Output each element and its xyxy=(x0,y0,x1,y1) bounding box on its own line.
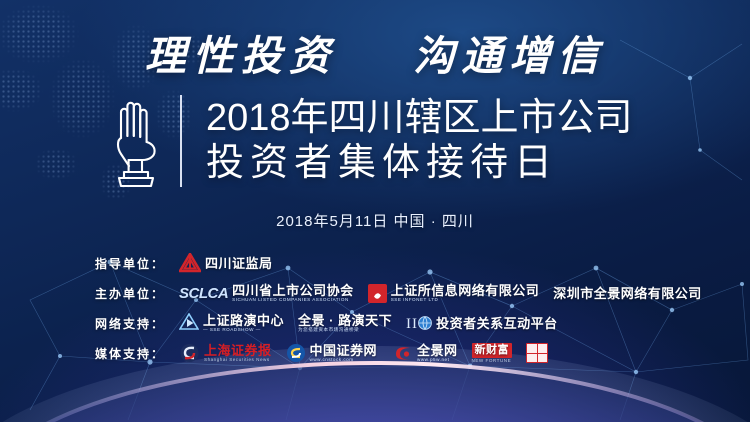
p5w-roadshow-text: 全景 · 路演天下 为您搭建资本市场沟通桥梁 xyxy=(298,314,392,333)
logo-sse-roadshow[interactable]: 上证路演中心 — SSE ROADSHOW — xyxy=(179,313,284,333)
ir-globe-icon: I I xyxy=(406,314,432,332)
logo-p5w-shenzhen[interactable]: 深圳市全景网络有限公司 xyxy=(553,287,702,300)
logo-sublabel: 为您搭建资本市场沟通桥梁 xyxy=(298,327,392,333)
sse-infonet-text: 上证所信息网络有限公司 SSE INFONET LTD xyxy=(391,284,540,303)
logo-sublabel: NEW FORTUNE xyxy=(472,358,513,364)
investor-reception-day-poster: 理性投资 沟通增信 2018年四川辖区上市公司 投资者集体接待日 2 xyxy=(0,0,750,422)
credit-row-logos: SCLCA 四川省上市公司协会 SICHUAN LISTED COMPANIES… xyxy=(179,284,702,303)
logo-csrc-sichuan[interactable]: 四川证监局 xyxy=(179,253,273,273)
logo-label: 上海证券报 xyxy=(204,344,272,357)
credit-row-logos: 上海证券报 Shanghai Securities News 中国证券网 www… xyxy=(179,343,548,364)
logo-label: 上证所信息网络有限公司 xyxy=(391,284,540,297)
title-block: 2018年四川辖区上市公司 投资者集体接待日 xyxy=(108,92,633,190)
logo-label: 深圳市全景网络有限公司 xyxy=(553,287,702,300)
logo-label: 全景网 xyxy=(417,344,458,357)
logo-shanghai-securities-news[interactable]: 上海证券报 Shanghai Securities News xyxy=(179,343,272,363)
credit-row-label: 媒体支持： xyxy=(95,345,171,362)
svg-text:I: I xyxy=(412,316,417,332)
credit-row-organizers: 主办单位： SCLCA 四川省上市公司协会 SICHUAN LISTED COM… xyxy=(95,278,695,308)
title-divider-rule xyxy=(180,95,182,187)
logo-sublabel: Shanghai Securities News xyxy=(204,357,272,363)
title-line-1: 2018年四川辖区上市公司 xyxy=(206,96,633,141)
credit-row-label: 指导单位： xyxy=(95,255,171,272)
logo-label: 四川证监局 xyxy=(205,257,273,270)
logo-sclca[interactable]: SCLCA 四川省上市公司协会 SICHUAN LISTED COMPANIES… xyxy=(179,284,354,303)
logo-sublabel: SSE INFONET LTD xyxy=(391,297,540,303)
sclca-text: 四川省上市公司协会 SICHUAN LISTED COMPANIES ASSOC… xyxy=(232,284,354,303)
credits-list: 指导单位： 四川证监局 主办单位： SCLCA 四 xyxy=(95,248,695,368)
seal-quadrant xyxy=(527,344,537,353)
logo-sublabel: — SSE ROADSHOW — xyxy=(203,327,284,333)
logo-ir-platform[interactable]: I I 投资者关系互动平台 xyxy=(406,314,558,332)
logo-p5w-net[interactable]: 全景网 www.p5w.net xyxy=(391,343,458,363)
raised-hand-on-book-icon xyxy=(108,92,166,190)
logo-sublabel: www.cnstock.com xyxy=(310,357,378,363)
red-seal-icon[interactable] xyxy=(526,343,548,363)
svg-text:I: I xyxy=(406,316,411,332)
logo-label: 新财富 xyxy=(472,343,513,358)
title-lines: 2018年四川辖区上市公司 投资者集体接待日 xyxy=(206,96,633,186)
headline-slogan: 理性投资 沟通增信 xyxy=(0,22,750,82)
csrc-triangle-icon xyxy=(179,253,201,273)
sse-roadshow-text: 上证路演中心 — SSE ROADSHOW — xyxy=(203,314,284,333)
credit-row-label: 网络支持： xyxy=(95,315,171,332)
credit-row-guidance: 指导单位： 四川证监局 xyxy=(95,248,695,278)
seal-quadrant xyxy=(538,344,548,353)
credit-row-logos: 上证路演中心 — SSE ROADSHOW — 全景 · 路演天下 为您搭建资本… xyxy=(179,313,558,333)
event-date-location: 2018年5月11日 中国 · 四川 xyxy=(0,210,750,231)
logo-sublabel: www.p5w.net xyxy=(417,357,458,363)
ssn-text: 上海证券报 Shanghai Securities News xyxy=(204,344,272,363)
cnstock-text: 中国证券网 www.cnstock.com xyxy=(310,344,378,363)
credit-row-label: 主办单位： xyxy=(95,285,171,302)
credit-row-media-support: 媒体支持： 上海证券报 Shanghai Securities News xyxy=(95,338,695,368)
logo-label: 四川省上市公司协会 xyxy=(232,284,354,297)
play-triangle-icon xyxy=(179,313,199,333)
swirl-s-icon xyxy=(179,343,200,363)
seal-quadrant xyxy=(538,354,548,363)
logo-label: 投资者关系互动平台 xyxy=(436,317,558,330)
credit-row-network-support: 网络支持： 上证路演中心 — SSE ROADSHOW — 全景 · 路演天下 xyxy=(95,308,695,338)
title-line-2: 投资者集体接待日 xyxy=(206,141,633,186)
headline-slogan-left: 理性投资 xyxy=(145,32,337,80)
new-fortune-text: 新财富 NEW FORTUNE xyxy=(472,343,513,364)
logo-cnstock[interactable]: 中国证券网 www.cnstock.com xyxy=(286,343,378,363)
logo-sublabel: SICHUAN LISTED COMPANIES ASSOCIATION xyxy=(232,297,354,303)
p5w-text: 全景网 www.p5w.net xyxy=(417,344,458,363)
seal-quadrant xyxy=(527,354,537,363)
sse-infonet-icon xyxy=(368,284,387,303)
globe-swirl-icon xyxy=(286,343,306,363)
logo-label: 全景 · 路演天下 xyxy=(298,314,392,327)
logo-label: 上证路演中心 xyxy=(203,314,284,327)
logo-p5w-roadshow[interactable]: 全景 · 路演天下 为您搭建资本市场沟通桥梁 xyxy=(298,314,392,333)
logo-sse-infonet[interactable]: 上证所信息网络有限公司 SSE INFONET LTD xyxy=(368,284,540,303)
p5w-e-icon xyxy=(391,343,413,363)
headline-slogan-right: 沟通增信 xyxy=(413,32,605,80)
logo-new-fortune[interactable]: 新财富 NEW FORTUNE xyxy=(472,343,513,364)
logo-label: 中国证券网 xyxy=(310,344,378,357)
sclca-wordmark: SCLCA xyxy=(179,286,228,301)
credit-row-logos: 四川证监局 xyxy=(179,253,273,273)
